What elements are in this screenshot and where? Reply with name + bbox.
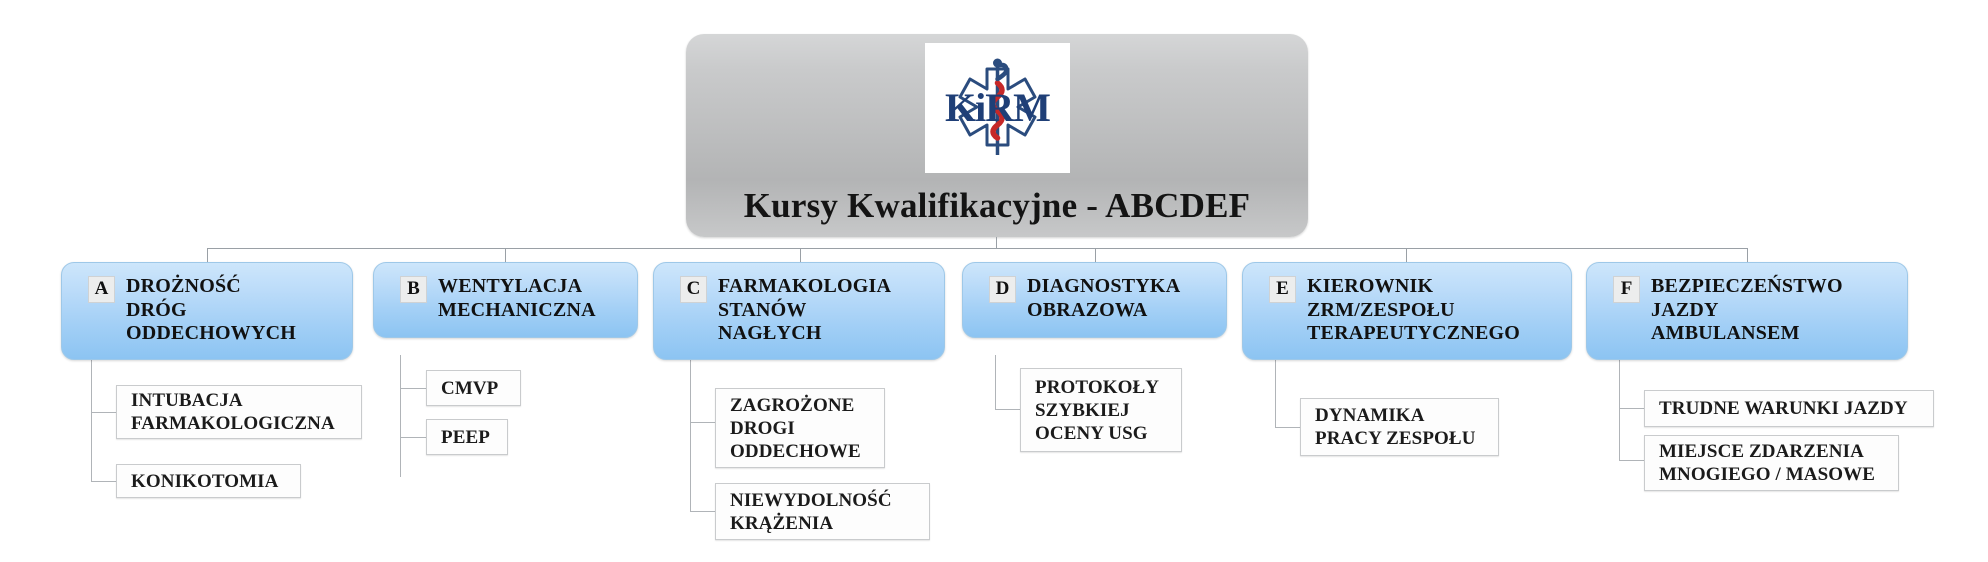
leaf-node-f-2[interactable]: MIEJSCE ZDARZENIA MNOGIEGO / MASOWE	[1644, 435, 1899, 491]
leaf-node-a-2[interactable]: KONIKOTOMIA	[116, 464, 301, 498]
connector-drop-e	[1406, 248, 1407, 262]
category-node-e[interactable]: E KIEROWNIK ZRM/ZESPOŁU TERAPEUTYCZNEGO	[1242, 262, 1572, 360]
connector-d-leaf-1	[995, 409, 1020, 410]
leaf-label-c-2: NIEWYDOLNOŚĆ KRĄŻENIA	[730, 489, 892, 535]
leaf-label-b-1: CMVP	[441, 377, 498, 400]
leaf-node-c-2[interactable]: NIEWYDOLNOŚĆ KRĄŻENIA	[715, 483, 930, 540]
leaf-node-e-1[interactable]: DYNAMIKA PRACY ZESPOŁU	[1300, 398, 1499, 456]
root-node[interactable]: KiRM Kursy Kwalifikacyjne - ABCDEF	[686, 34, 1308, 237]
category-badge-d: D	[989, 276, 1016, 303]
connector-e-leaf-1	[1275, 427, 1300, 428]
leaf-label-f-2: MIEJSCE ZDARZENIA MNOGIEGO / MASOWE	[1659, 440, 1875, 486]
org-chart-canvas: KiRM Kursy Kwalifikacyjne - ABCDEF A DRO…	[0, 0, 1988, 562]
connector-f-spine	[1619, 360, 1620, 461]
category-node-a[interactable]: A DROŻNOŚĆ DRÓG ODDECHOWYCH	[61, 262, 353, 360]
category-node-b[interactable]: B WENTYLACJA MECHANICZNA	[373, 262, 638, 338]
leaf-label-e-1: DYNAMIKA PRACY ZESPOŁU	[1315, 404, 1476, 450]
category-badge-f: F	[1613, 276, 1640, 303]
leaf-node-a-1[interactable]: INTUBACJA FARMAKOLOGICZNA	[116, 385, 362, 439]
category-node-c[interactable]: C FARMAKOLOGIA STANÓW NAGŁYCH	[653, 262, 945, 360]
connector-drop-c	[800, 248, 801, 262]
connector-b-leaf-1	[400, 388, 426, 389]
category-label-f: BEZPIECZEŃSTWO JAZDY AMBULANSEM	[1651, 275, 1843, 346]
connector-a-leaf-2	[91, 481, 116, 482]
category-badge-e: E	[1269, 276, 1296, 303]
connector-a-spine	[91, 360, 92, 482]
leaf-node-b-1[interactable]: CMVP	[426, 370, 521, 406]
connector-d-spine	[995, 355, 996, 410]
category-node-f[interactable]: F BEZPIECZEŃSTWO JAZDY AMBULANSEM	[1586, 262, 1908, 360]
connector-c-leaf-2	[690, 511, 715, 512]
category-label-b: WENTYLACJA MECHANICZNA	[438, 275, 596, 322]
connector-root-stem	[996, 237, 997, 248]
connector-c-spine	[690, 360, 691, 512]
connector-f-leaf-1	[1619, 408, 1644, 409]
leaf-label-a-1: INTUBACJA FARMAKOLOGICZNA	[131, 389, 335, 435]
category-badge-a: A	[88, 276, 115, 303]
category-label-e: KIEROWNIK ZRM/ZESPOŁU TERAPEUTYCZNEGO	[1307, 275, 1520, 346]
leaf-node-c-1[interactable]: ZAGROŻONE DROGI ODDECHOWE	[715, 388, 885, 468]
connector-drop-d	[1095, 248, 1096, 262]
category-node-d[interactable]: D DIAGNOSTYKA OBRAZOWA	[962, 262, 1227, 338]
category-label-a: DROŻNOŚĆ DRÓG ODDECHOWYCH	[126, 275, 296, 346]
leaf-label-a-2: KONIKOTOMIA	[131, 470, 279, 493]
connector-c-leaf-1	[690, 422, 715, 423]
connector-drop-f	[1747, 248, 1748, 262]
category-badge-c: C	[680, 276, 707, 303]
kirm-star-of-life-logo: KiRM	[925, 43, 1070, 173]
category-label-d: DIAGNOSTYKA OBRAZOWA	[1027, 275, 1180, 322]
leaf-node-b-2[interactable]: PEEP	[426, 419, 508, 455]
category-badge-b: B	[400, 276, 427, 303]
leaf-label-f-1: TRUDNE WARUNKI JAZDY	[1659, 397, 1908, 420]
root-title: Kursy Kwalifikacyjne - ABCDEF	[744, 188, 1251, 223]
svg-text:KiRM: KiRM	[945, 85, 1050, 130]
leaf-label-b-2: PEEP	[441, 426, 490, 449]
connector-f-leaf-2	[1619, 460, 1644, 461]
connector-b-spine	[400, 355, 401, 477]
leaf-label-d-1: PROTOKOŁY SZYBKIEJ OCENY USG	[1035, 376, 1159, 445]
connector-horizontal-bus	[207, 248, 1747, 249]
connector-b-leaf-2	[400, 437, 426, 438]
connector-drop-b	[505, 248, 506, 262]
connector-drop-a	[207, 248, 208, 262]
leaf-node-f-1[interactable]: TRUDNE WARUNKI JAZDY	[1644, 390, 1934, 427]
leaf-node-d-1[interactable]: PROTOKOŁY SZYBKIEJ OCENY USG	[1020, 368, 1182, 452]
connector-e-spine	[1275, 360, 1276, 428]
leaf-label-c-1: ZAGROŻONE DROGI ODDECHOWE	[730, 394, 861, 463]
category-label-c: FARMAKOLOGIA STANÓW NAGŁYCH	[718, 275, 891, 346]
connector-a-leaf-1	[91, 412, 116, 413]
